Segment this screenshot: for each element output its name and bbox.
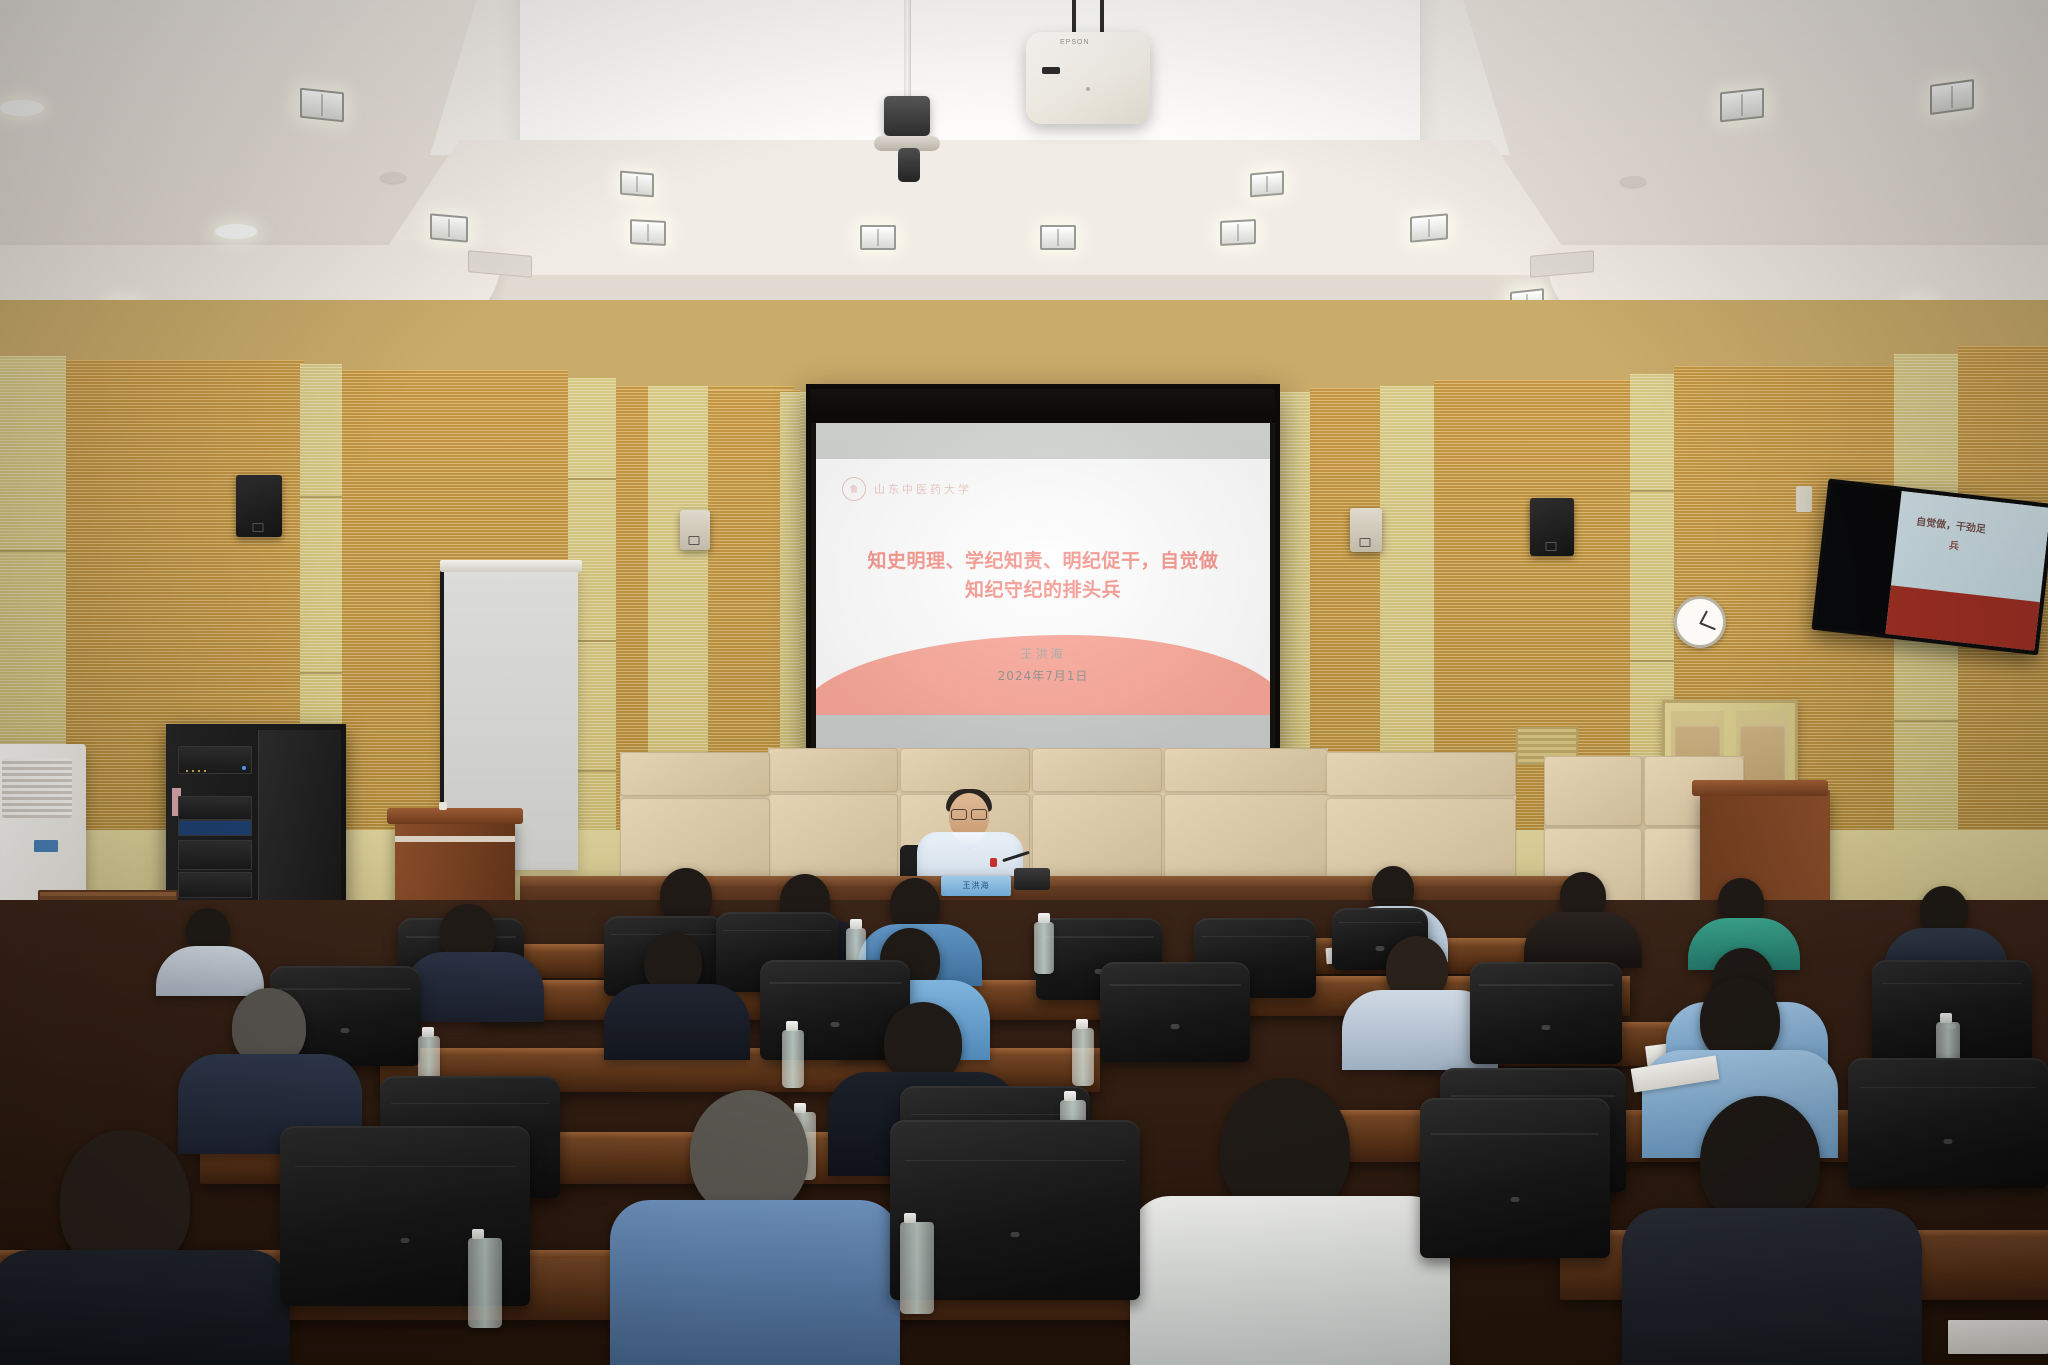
ceiling-spotlight bbox=[1220, 219, 1256, 246]
ac-grill-icon bbox=[2, 758, 72, 818]
university-name-label: 山东中医药大学 bbox=[874, 481, 972, 497]
ceiling-spotlight bbox=[1930, 79, 1974, 115]
stage-padded-backdrop-right bbox=[1326, 752, 1516, 878]
panel-seam bbox=[1630, 660, 1674, 662]
attendee-shoulders bbox=[1524, 912, 1642, 968]
backdrop-pad bbox=[1032, 748, 1162, 792]
attendee-shoulders bbox=[0, 1250, 290, 1365]
slide-title-line2: 知纪守纪的排头兵 bbox=[836, 576, 1250, 605]
slide-title: 知史明理、学纪知责、明纪促干，自觉做 知纪守纪的排头兵 bbox=[836, 547, 1250, 604]
slide-title-line1: 知史明理、学纪知责、明纪促干，自觉做 bbox=[836, 547, 1250, 576]
rack-unit bbox=[178, 746, 252, 774]
audience-chair bbox=[1848, 1058, 2048, 1188]
podium-microphone-icon bbox=[439, 802, 447, 810]
bottle-cap bbox=[472, 1229, 484, 1239]
eyeglasses-icon bbox=[951, 809, 987, 818]
stage-padded-backdrop bbox=[768, 748, 1328, 878]
chair-button bbox=[831, 1022, 840, 1027]
backdrop-pad bbox=[1164, 794, 1328, 878]
wall-speaker-left bbox=[236, 475, 282, 537]
rack-unit-amplifier bbox=[178, 820, 252, 836]
chair-button bbox=[341, 1028, 350, 1033]
ceiling-downlight bbox=[215, 224, 257, 239]
wall-clock bbox=[1674, 596, 1726, 648]
desk-microphone bbox=[1014, 868, 1050, 890]
backdrop-pad bbox=[620, 798, 770, 878]
chair-button bbox=[1376, 946, 1385, 951]
slide-date: 2024年7月1日 bbox=[816, 667, 1270, 684]
rack-unit bbox=[178, 840, 252, 870]
wall-speaker-small bbox=[680, 510, 710, 550]
attendee-head bbox=[1700, 1096, 1820, 1226]
attendee-shoulders bbox=[610, 1200, 900, 1365]
stage-padded-backdrop-left bbox=[620, 752, 770, 878]
tv-wall-mount bbox=[1796, 486, 1812, 512]
rack-led-icon bbox=[198, 770, 200, 772]
presentation-slide: 鲁 山东中医药大学 知史明理、学纪知责、明纪促干，自觉做 知纪守纪的排头兵 王洪… bbox=[816, 459, 1270, 715]
ceiling-spotlight bbox=[1720, 88, 1764, 123]
projection-screen: 鲁 山东中医药大学 知史明理、学纪知责、明纪促干，自觉做 知纪守纪的排头兵 王洪… bbox=[806, 384, 1280, 764]
podium-top bbox=[1692, 780, 1828, 796]
projector-indicator-icon bbox=[1086, 87, 1090, 91]
wall-speaker-small-right bbox=[1350, 508, 1382, 552]
chair-button bbox=[1511, 1197, 1520, 1202]
water-bottle[interactable] bbox=[900, 1222, 934, 1314]
backdrop-pad bbox=[620, 752, 770, 796]
attendee-documents bbox=[1948, 1320, 2048, 1354]
backdrop-pad bbox=[900, 748, 1030, 792]
water-bottle[interactable] bbox=[1072, 1028, 1094, 1086]
slide-presenter-name: 王洪海 bbox=[816, 645, 1270, 662]
attendee-shoulders bbox=[1130, 1196, 1450, 1365]
water-bottle[interactable] bbox=[468, 1238, 502, 1328]
ceiling-spotlight bbox=[1410, 213, 1448, 242]
panel-seam bbox=[300, 496, 342, 498]
ceiling-spotlight bbox=[860, 225, 896, 250]
bottle-cap bbox=[850, 919, 862, 929]
bottle-cap bbox=[422, 1027, 434, 1037]
chair-button bbox=[1944, 1139, 1953, 1144]
podium-top bbox=[387, 808, 523, 824]
bottle-cap bbox=[794, 1103, 806, 1113]
ptz-camera bbox=[884, 96, 930, 136]
water-bottle[interactable] bbox=[1034, 922, 1054, 974]
bottle-cap bbox=[904, 1213, 916, 1223]
attendee-shoulders bbox=[156, 946, 264, 996]
university-seal-icon: 鲁 bbox=[842, 477, 866, 501]
attendee-head bbox=[690, 1090, 808, 1216]
tv-text-line2: 兵 bbox=[1948, 537, 1960, 553]
smoke-detector-icon bbox=[380, 172, 406, 183]
ceiling-downlight bbox=[0, 100, 44, 116]
wall-speaker-right bbox=[1530, 498, 1574, 556]
speaker-nameplate-text: 王洪海 bbox=[941, 876, 1011, 896]
panel-seam bbox=[1630, 490, 1674, 492]
attendee-shoulders bbox=[404, 952, 544, 1022]
attendee-shoulders bbox=[1622, 1208, 1922, 1365]
panel-seam bbox=[300, 672, 342, 674]
chair-button bbox=[1011, 1232, 1020, 1237]
rack-unit bbox=[178, 796, 252, 820]
bottle-cap bbox=[1940, 1013, 1952, 1023]
university-logo: 鲁 山东中医药大学 bbox=[842, 477, 972, 501]
camera-lens-icon bbox=[898, 148, 920, 182]
ceiling-spotlight bbox=[1040, 225, 1076, 250]
rack-unit bbox=[178, 872, 252, 898]
backdrop-pad bbox=[1032, 794, 1162, 878]
audience-chair bbox=[1470, 962, 1622, 1064]
screen-surface: 鲁 山东中医药大学 知史明理、学纪知责、明纪促干，自觉做 知纪守纪的排头兵 王洪… bbox=[816, 423, 1270, 749]
backdrop-pad bbox=[768, 794, 898, 878]
conference-hall-photo: EPSON bbox=[0, 0, 2048, 1365]
attendee-shoulders bbox=[604, 984, 750, 1060]
ac-display-panel bbox=[34, 840, 58, 852]
ceiling-spotlight bbox=[430, 213, 468, 242]
rack-led-icon bbox=[204, 770, 206, 772]
backdrop-pad bbox=[1326, 752, 1516, 796]
water-bottle[interactable] bbox=[782, 1030, 804, 1088]
audience-chair bbox=[1420, 1098, 1610, 1258]
tv-bezel: 自觉做，干劲足 兵 bbox=[1816, 483, 2048, 651]
roller-curtain-bar bbox=[440, 560, 582, 572]
bottle-cap bbox=[1038, 913, 1050, 923]
ceiling-spotlight bbox=[1250, 171, 1284, 198]
ceiling-spotlight bbox=[630, 219, 666, 246]
backdrop-pad bbox=[1164, 748, 1328, 792]
screen-roller-housing bbox=[811, 389, 1275, 423]
ceiling-spotlight bbox=[620, 171, 654, 198]
speaker-nameplate: 王洪海 bbox=[941, 876, 1011, 896]
chair-button bbox=[401, 1238, 410, 1243]
ceiling-spotlight bbox=[300, 88, 344, 123]
smoke-detector-icon bbox=[1620, 176, 1646, 187]
chair-button bbox=[1542, 1025, 1551, 1030]
attendee-head bbox=[60, 1130, 190, 1270]
bottle-cap bbox=[786, 1021, 798, 1031]
panel-seam bbox=[1894, 720, 1958, 722]
projector-lens-icon bbox=[1042, 67, 1060, 74]
ceiling-projector: EPSON bbox=[1026, 32, 1150, 124]
rack-power-led-icon bbox=[242, 766, 246, 770]
audience-chair bbox=[1100, 962, 1250, 1062]
bottle-cap bbox=[1076, 1019, 1088, 1029]
projector-brand-label: EPSON bbox=[1060, 39, 1090, 46]
rack-led-icon bbox=[192, 770, 194, 772]
backdrop-pad bbox=[768, 748, 898, 792]
bottle-cap bbox=[1064, 1091, 1076, 1101]
chair-button bbox=[1171, 1024, 1180, 1029]
rack-led-icon bbox=[186, 770, 188, 772]
podium-trim bbox=[395, 836, 515, 842]
wall-mounted-tv: 自觉做，干劲足 兵 bbox=[1811, 478, 2048, 655]
panel-seam bbox=[568, 478, 616, 480]
panel-seam bbox=[0, 550, 66, 552]
party-badge-icon bbox=[990, 858, 997, 867]
backdrop-pad bbox=[1326, 798, 1516, 878]
backdrop-pad bbox=[1544, 756, 1642, 826]
